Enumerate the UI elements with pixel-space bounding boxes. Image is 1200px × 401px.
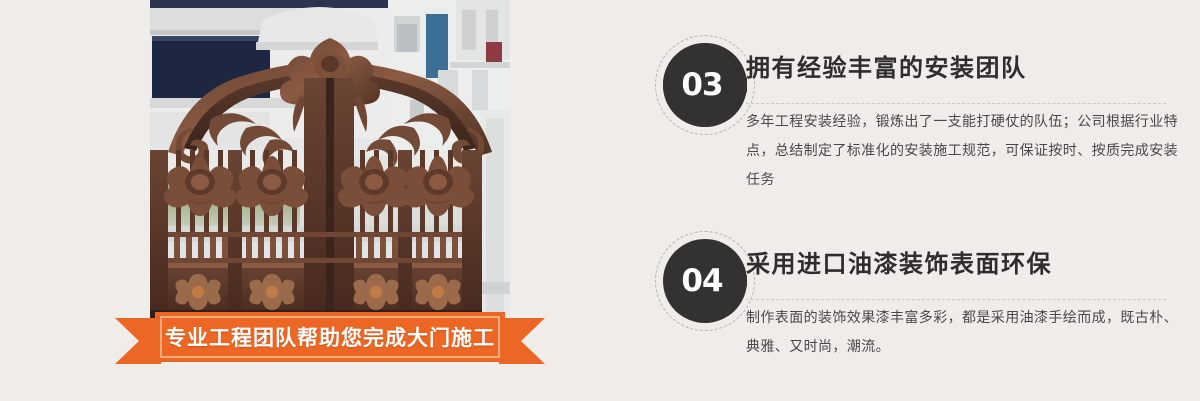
badge-bubble-icon: 04 [663,239,747,323]
badge-bubble-shape [663,43,747,127]
feature-title: 拥有经验丰富的安装团队 [746,48,1027,83]
badge-bubble-icon: 03 [663,43,747,127]
ribbon-banner: 专业工程团队帮助您完成大门施工 [115,312,545,370]
gate-photo [150,0,510,318]
feature-divider [746,103,1166,104]
feature-item: 04 采用进口油漆装饰表面环保 制作表面的装饰效果漆丰富多彩，都是采用油漆手绘而… [650,226,1180,338]
gate-visual: 专业工程团队帮助您完成大门施工 [150,0,510,318]
feature-body: 制作表面的装饰效果漆丰富多彩，都是采用油漆手绘而成，既古朴、典雅、又时尚，潮流。 [746,304,1182,362]
number-badge: 04 [655,231,755,331]
gate-photo-illustration [150,0,510,318]
feature-title: 采用进口油漆装饰表面环保 [746,244,1052,279]
number-badge: 03 [655,35,755,135]
feature-list: 03 拥有经验丰富的安装团队 多年工程安装经验，锻炼出了一支能打硬仗的队伍；公司… [650,0,1180,401]
promo-banner: 专业工程团队帮助您完成大门施工 03 拥有经验丰富 [0,0,1200,401]
feature-body: 多年工程安装经验，锻炼出了一支能打硬仗的队伍；公司根据行业特点，总结制定了标准化… [746,108,1182,195]
feature-item: 03 拥有经验丰富的安装团队 多年工程安装经验，锻炼出了一支能打硬仗的队伍；公司… [650,30,1180,142]
feature-divider [746,299,1166,300]
ribbon-shape [115,312,545,370]
badge-bubble-shape [663,239,747,323]
